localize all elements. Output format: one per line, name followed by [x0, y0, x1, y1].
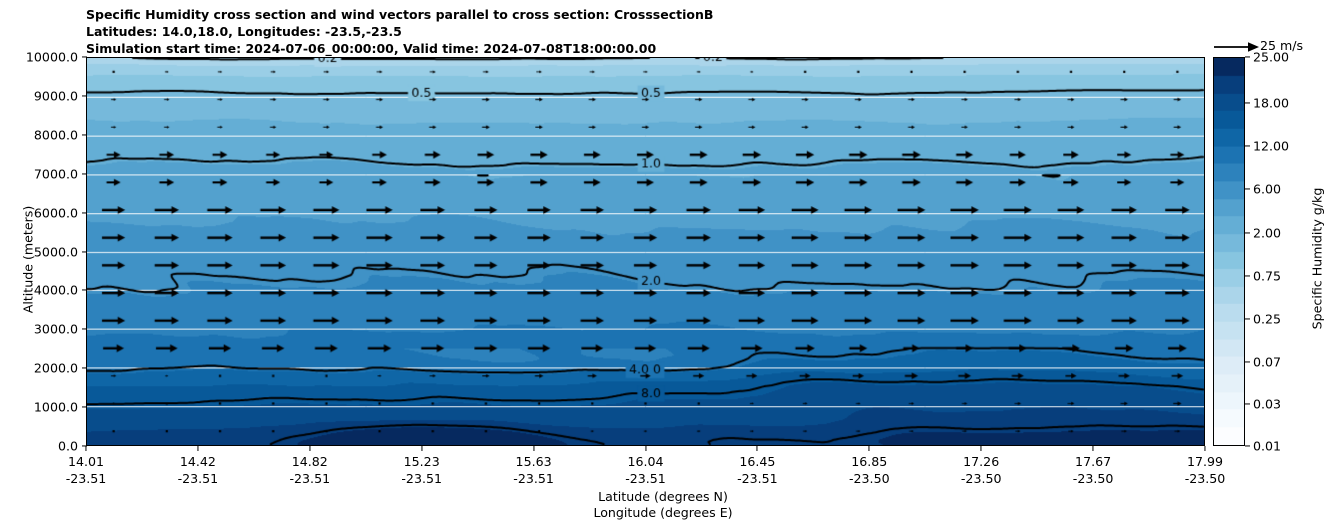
y-axis-tick-label: 2000.0	[0, 361, 78, 376]
x-axis-title-longitude: Longitude (degrees E)	[0, 505, 1326, 520]
x-axis-longitude-value: -23.51	[66, 470, 107, 487]
x-axis-latitude-value: 16.04	[625, 453, 666, 470]
x-axis-longitude-value: -23.50	[849, 470, 890, 487]
colorbar-canvas	[1214, 58, 1244, 445]
x-axis-longitude-value: -23.51	[625, 470, 666, 487]
colorbar-tick-mark	[1245, 145, 1250, 146]
x-axis-tick-mark	[981, 446, 982, 451]
y-axis-tick-mark	[82, 368, 87, 369]
colorbar-title: Specific Humidity g/kg	[1310, 99, 1325, 419]
y-axis-tick-label: 10000.0	[0, 50, 78, 65]
x-axis-latitude-value: 14.42	[178, 453, 219, 470]
colorbar-tick-label: 0.03	[1253, 397, 1281, 412]
colorbar-tick-label: 25.00	[1253, 50, 1289, 65]
x-axis-latitude-value: 14.01	[66, 453, 107, 470]
x-axis-latitude-value: 17.99	[1185, 453, 1226, 470]
x-axis-longitude-value: -23.50	[1185, 470, 1226, 487]
x-axis-tick-label: 16.04-23.51	[625, 453, 666, 487]
x-axis-tick-mark	[421, 446, 422, 451]
x-axis-tick-mark	[757, 446, 758, 451]
y-axis-tick-label: 0.0	[0, 439, 78, 454]
x-axis-latitude-value: 14.82	[289, 453, 330, 470]
x-axis-latitude-value: 16.45	[737, 453, 778, 470]
x-axis-tick-label: 14.42-23.51	[178, 453, 219, 487]
colorbar-tick-label: 0.25	[1253, 311, 1281, 326]
x-axis-tick-label: 17.26-23.50	[961, 453, 1002, 487]
colorbar-tick-mark	[1245, 56, 1250, 57]
x-axis-latitude-value: 15.63	[513, 453, 554, 470]
colorbar-tick-mark	[1245, 445, 1250, 446]
y-axis-tick-label: 6000.0	[0, 205, 78, 220]
colorbar-tick-mark	[1245, 404, 1250, 405]
x-axis-longitude-value: -23.51	[401, 470, 442, 487]
x-axis-tick-mark	[645, 446, 646, 451]
title-line-3: Simulation start time: 2024-07-06_00:00:…	[86, 40, 713, 57]
y-axis-tick-label: 8000.0	[0, 127, 78, 142]
colorbar-tick-mark	[1245, 232, 1250, 233]
x-axis-longitude-value: -23.50	[1073, 470, 1114, 487]
x-axis-tick-label: 14.01-23.51	[66, 453, 107, 487]
y-axis-title: Altitude (meters)	[21, 140, 36, 380]
y-axis-tick-label: 5000.0	[0, 244, 78, 259]
figure-title: Specific Humidity cross section and wind…	[86, 6, 713, 57]
colorbar-tick-mark	[1245, 102, 1250, 103]
humidity-contour-canvas	[87, 58, 1204, 445]
x-axis-latitude-value: 15.23	[401, 453, 442, 470]
colorbar-tick-mark	[1245, 189, 1250, 190]
y-axis-tick-mark	[82, 95, 87, 96]
y-axis-tick-label: 1000.0	[0, 400, 78, 415]
title-line-2: Latitudes: 14.0,18.0, Longitudes: -23.5,…	[86, 23, 713, 40]
y-axis-tick-mark	[82, 407, 87, 408]
colorbar-tick-mark	[1245, 361, 1250, 362]
y-axis-tick-mark	[82, 173, 87, 174]
colorbar-tick-label: 18.00	[1253, 95, 1289, 110]
x-axis-tick-mark	[1093, 446, 1094, 451]
colorbar-tick-mark	[1245, 275, 1250, 276]
x-axis-title-latitude: Latitude (degrees N)	[0, 489, 1326, 504]
colorbar-tick-label: 0.07	[1253, 354, 1281, 369]
cross-section-plot	[86, 57, 1205, 446]
x-axis-tick-mark	[1204, 446, 1205, 451]
x-axis-longitude-value: -23.50	[961, 470, 1002, 487]
x-axis-longitude-value: -23.51	[737, 470, 778, 487]
y-axis-tick-label: 7000.0	[0, 166, 78, 181]
colorbar-tick-label: 2.00	[1253, 225, 1281, 240]
y-axis-tick-label: 9000.0	[0, 88, 78, 103]
colorbar-tick-label: 6.00	[1253, 182, 1281, 197]
x-axis-tick-mark	[533, 446, 534, 451]
colorbar-tick-label: 12.00	[1253, 138, 1289, 153]
y-axis-tick-mark	[82, 212, 87, 213]
title-line-1: Specific Humidity cross section and wind…	[86, 6, 713, 23]
colorbar-gradient	[1213, 57, 1245, 446]
colorbar: 25.0018.0012.006.002.000.750.250.070.030…	[1213, 57, 1326, 446]
x-axis-tick-label: 16.45-23.51	[737, 453, 778, 487]
y-axis-tick-mark	[82, 329, 87, 330]
x-axis-tick-label: 16.85-23.50	[849, 453, 890, 487]
x-axis-tick-mark	[869, 446, 870, 451]
y-axis-tick-label: 4000.0	[0, 283, 78, 298]
colorbar-tick-label: 0.75	[1253, 268, 1281, 283]
x-axis-latitude-value: 16.85	[849, 453, 890, 470]
colorbar-tick-label: 0.01	[1253, 439, 1281, 454]
x-axis-latitude-value: 17.26	[961, 453, 1002, 470]
x-axis-tick-label: 14.82-23.51	[289, 453, 330, 487]
colorbar-tick-mark	[1245, 318, 1250, 319]
x-axis-tick-mark	[85, 446, 86, 451]
x-axis-longitude-value: -23.51	[178, 470, 219, 487]
figure-root: Specific Humidity cross section and wind…	[0, 0, 1326, 526]
x-axis-tick-mark	[197, 446, 198, 451]
x-axis-longitude-value: -23.51	[289, 470, 330, 487]
x-axis-tick-label: 15.23-23.51	[401, 453, 442, 487]
x-axis-tick-label: 17.99-23.50	[1185, 453, 1226, 487]
x-axis-tick-label: 17.67-23.50	[1073, 453, 1114, 487]
y-axis-tick-mark	[82, 251, 87, 252]
x-axis-latitude-value: 17.67	[1073, 453, 1114, 470]
y-axis-tick-mark	[82, 290, 87, 291]
y-axis-tick-label: 3000.0	[0, 322, 78, 337]
y-axis-tick-mark	[82, 56, 87, 57]
x-axis-tick-mark	[309, 446, 310, 451]
x-axis-tick-label: 15.63-23.51	[513, 453, 554, 487]
x-axis-longitude-value: -23.51	[513, 470, 554, 487]
y-axis-tick-mark	[82, 134, 87, 135]
